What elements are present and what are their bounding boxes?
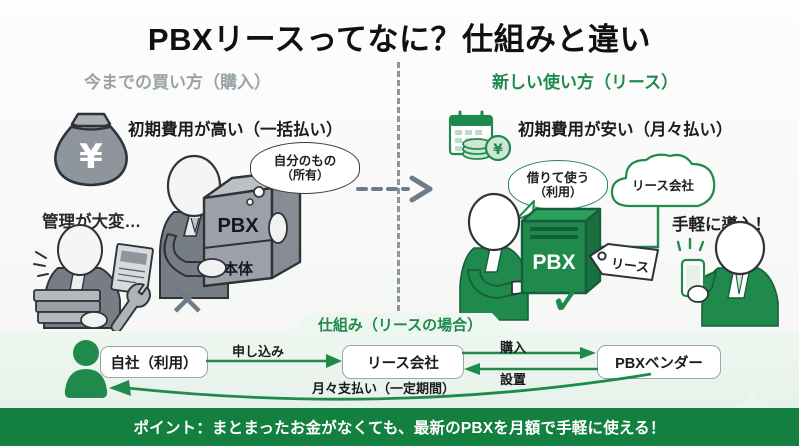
bubble-line-1: 借りて使う [527,171,590,186]
flow-label-monthly-payment: 月々支払い（一定期間） [312,378,455,397]
calendar-coins-icon: ¥ [446,110,512,162]
infographic-canvas: PBXリースってなに？仕組みと違い 今までの買い方（購入） 新しい使い方（リース… [0,0,799,446]
page-title: PBXリースってなに？仕組みと違い [0,14,799,59]
lease-tag-icon: リース [586,240,664,286]
footer-banner: ポイント：まとまったお金がなくても、最新のPBXを月額で手軽に使える！ [0,408,799,446]
cloud-label-lease-company: リース会社 [608,158,718,210]
bubble-line-2: （所有） [281,168,329,182]
person-overloaded-illustration [28,228,168,328]
flow-arrow-purchase [462,347,598,359]
column-header-purchase: 今までの買い方（購入） [84,68,271,93]
flow-label-purchase: 購入 [500,337,526,356]
transition-arrow-icon [356,176,440,202]
check-mark-icon: ✓ [548,272,592,324]
flow-label-apply: 申し込み [232,341,284,360]
column-header-lease: 新しい使い方（リース） [492,68,678,93]
pbx-box-label: PBX [217,215,259,237]
thought-bubble-tail-icon [244,186,268,210]
pbx-box-sublabel: 本体 [223,260,254,278]
money-bag-icon: ¥ [48,108,134,190]
cross-mark-icon: ✕ [168,277,207,323]
person-with-smartphone-illustration [678,228,794,326]
yen-coin-symbol: ¥ [493,142,503,158]
yen-symbol: ¥ [79,137,103,177]
caption-initial-cost-high: 初期費用が高い（一括払い） [128,116,343,140]
caption-initial-cost-low: 初期費用が安い（月々払い） [518,116,733,140]
footer-text: ポイント：まとまったお金がなくても、最新のPBXを月額で手軽に使える！ [133,416,665,438]
bubble-line-1: 自分のもの [274,154,337,169]
mechanism-band-label: 仕組み（リースの場合） [285,314,515,335]
